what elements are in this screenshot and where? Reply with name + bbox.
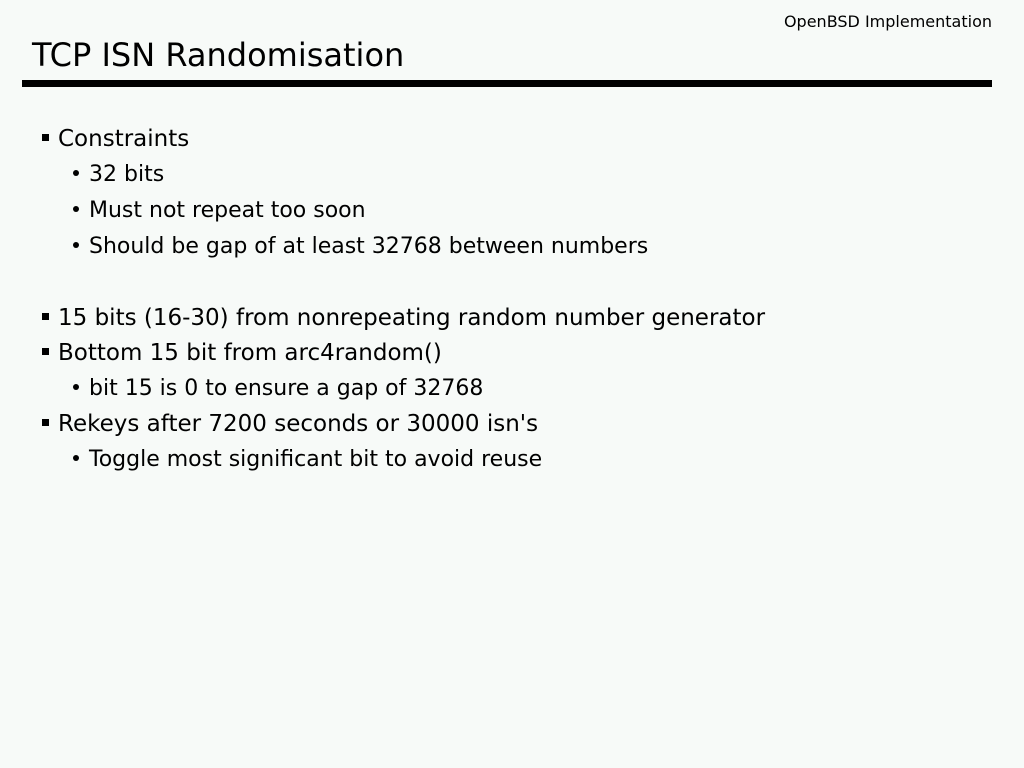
list-item-label: Toggle most significant bit to avoid reu… bbox=[89, 442, 542, 478]
slide-content-list: Constraints32 bitsMust not repeat too so… bbox=[0, 122, 1024, 478]
square-bullet-icon bbox=[42, 134, 49, 141]
list-item: Constraints bbox=[0, 122, 1024, 157]
disc-bullet-icon bbox=[73, 455, 79, 461]
list-item: bit 15 is 0 to ensure a gap of 32768 bbox=[0, 371, 1024, 407]
page-title: TCP ISN Randomisation bbox=[32, 38, 404, 73]
slide-header-label: OpenBSD Implementation bbox=[0, 12, 992, 31]
list-item: Rekeys after 7200 seconds or 30000 isn's bbox=[0, 407, 1024, 442]
square-bullet-icon bbox=[42, 313, 49, 320]
list-item-label: bit 15 is 0 to ensure a gap of 32768 bbox=[89, 371, 483, 407]
square-bullet-icon bbox=[42, 419, 49, 426]
list-item-label: 32 bits bbox=[89, 157, 164, 193]
list-item: Toggle most significant bit to avoid reu… bbox=[0, 442, 1024, 478]
list-item: 15 bits (16-30) from nonrepeating random… bbox=[0, 301, 1024, 336]
list-item-label: 15 bits (16-30) from nonrepeating random… bbox=[58, 301, 765, 336]
list-item: Must not repeat too soon bbox=[0, 193, 1024, 229]
disc-bullet-icon bbox=[73, 170, 79, 176]
list-item-label: Must not repeat too soon bbox=[89, 193, 366, 229]
list-item: Should be gap of at least 32768 between … bbox=[0, 229, 1024, 265]
list-item-label: Bottom 15 bit from arc4random() bbox=[58, 336, 442, 371]
list-item-label: Rekeys after 7200 seconds or 30000 isn's bbox=[58, 407, 538, 442]
disc-bullet-icon bbox=[73, 384, 79, 390]
list-spacer bbox=[0, 265, 1024, 301]
list-item-label: Constraints bbox=[58, 122, 189, 157]
disc-bullet-icon bbox=[73, 242, 79, 248]
title-divider bbox=[22, 80, 992, 87]
list-item: 32 bits bbox=[0, 157, 1024, 193]
list-item: Bottom 15 bit from arc4random() bbox=[0, 336, 1024, 371]
list-item-label: Should be gap of at least 32768 between … bbox=[89, 229, 648, 265]
disc-bullet-icon bbox=[73, 206, 79, 212]
square-bullet-icon bbox=[42, 348, 49, 355]
